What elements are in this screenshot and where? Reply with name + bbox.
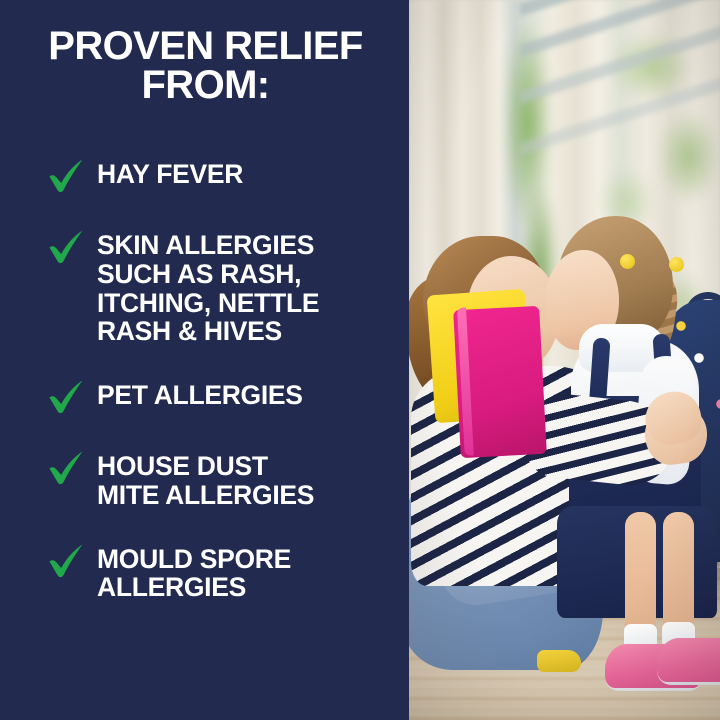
green-check-icon [44, 152, 88, 196]
list-item: HAY FEVER [0, 152, 409, 196]
list-item: PET ALLERGIES [0, 373, 409, 417]
green-check-icon [44, 444, 88, 488]
page-title: PROVEN RELIEF FROM: [18, 27, 393, 105]
photo-scene [409, 0, 720, 720]
girl-leg-right [663, 512, 694, 640]
list-item-label: HOUSE DUST MITE ALLERGIES [97, 452, 409, 510]
girl-hair-tie-left [620, 254, 635, 269]
headline-line-1: PROVEN RELIEF [18, 27, 393, 66]
girl-leg-left [625, 512, 656, 640]
headline-line-2: FROM: [18, 66, 393, 105]
list-item: MOULD SPORE ALLERGIES [0, 537, 409, 603]
benefit-list: HAY FEVER SKIN ALLERGIES SUCH AS RASH, I… [0, 152, 409, 629]
green-check-icon [44, 373, 88, 417]
list-item-label: MOULD SPORE ALLERGIES [97, 545, 409, 603]
list-item-label: PET ALLERGIES [97, 381, 409, 410]
green-check-icon [44, 223, 88, 267]
promo-banner: PROVEN RELIEF FROM: HAY FEVER SKIN ALL [0, 0, 720, 720]
woman-shoe [537, 650, 581, 672]
green-check-icon [44, 537, 88, 581]
girl-hair-tie-right [669, 257, 684, 272]
list-item: SKIN ALLERGIES SUCH AS RASH, ITCHING, NE… [0, 223, 409, 346]
girl-pink-sneaker-right [657, 638, 720, 682]
list-item: HOUSE DUST MITE ALLERGIES [0, 444, 409, 510]
benefits-panel: PROVEN RELIEF FROM: HAY FEVER SKIN ALL [0, 0, 409, 720]
list-item-label: HAY FEVER [97, 160, 409, 189]
list-item-label: SKIN ALLERGIES SUCH AS RASH, ITCHING, NE… [97, 231, 409, 346]
lifestyle-photo [409, 0, 720, 720]
blurred-pergola-beams [520, 0, 720, 178]
